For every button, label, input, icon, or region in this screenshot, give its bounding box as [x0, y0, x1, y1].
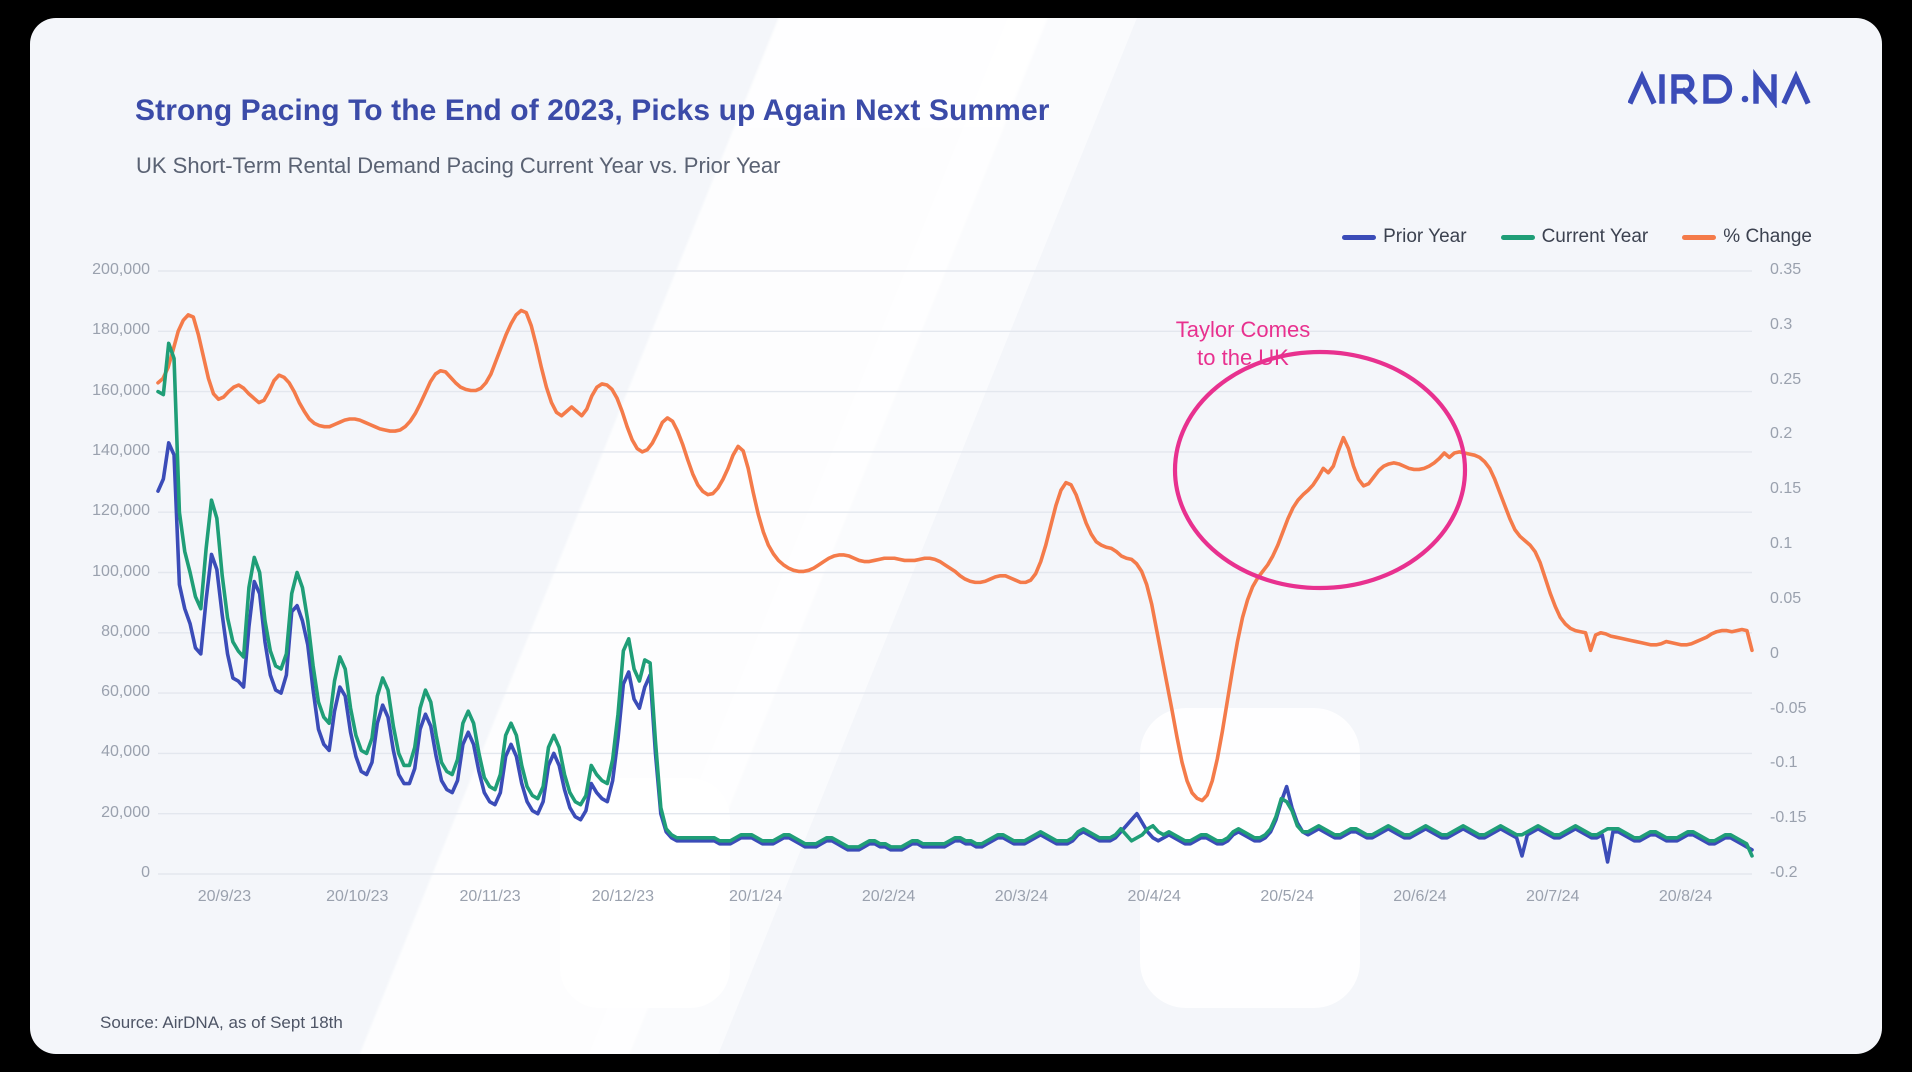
x-axis-tick-label: 20/10/23: [297, 888, 417, 906]
x-axis-tick-label: 20/1/24: [696, 888, 816, 906]
y-axis-right-tick-label: 0.15: [1770, 480, 1801, 498]
y-axis-right-tick-label: -0.05: [1770, 700, 1806, 718]
y-axis-right-tick-label: 0.3: [1770, 316, 1792, 334]
x-axis-tick-label: 20/7/24: [1493, 888, 1613, 906]
series-line--change: [158, 310, 1752, 800]
y-axis-right-tick-label: 0: [1770, 645, 1779, 663]
y-axis-left-tick-label: 200,000: [62, 261, 150, 279]
x-axis-tick-label: 20/8/24: [1626, 888, 1746, 906]
x-axis-tick-label: 20/2/24: [829, 888, 949, 906]
x-axis-tick-label: 20/6/24: [1360, 888, 1480, 906]
y-axis-left-tick-label: 160,000: [62, 382, 150, 400]
y-axis-left-tick-label: 80,000: [62, 623, 150, 641]
y-axis-left-tick-label: 120,000: [62, 502, 150, 520]
x-axis-tick-label: 20/9/23: [164, 888, 284, 906]
series-line-current-year: [158, 343, 1752, 856]
y-axis-left-tick-label: 20,000: [62, 804, 150, 822]
source-note: Source: AirDNA, as of Sept 18th: [100, 1013, 343, 1033]
y-axis-right-tick-label: 0.35: [1770, 261, 1801, 279]
x-axis-tick-label: 20/5/24: [1227, 888, 1347, 906]
y-axis-right-tick-label: 0.25: [1770, 371, 1801, 389]
y-axis-right-tick-label: -0.15: [1770, 809, 1806, 827]
x-axis-tick-label: 20/4/24: [1094, 888, 1214, 906]
y-axis-right-tick-label: 0.1: [1770, 535, 1792, 553]
y-axis-left-tick-label: 0: [62, 864, 150, 882]
chart-card: Strong Pacing To the End of 2023, Picks …: [30, 18, 1882, 1054]
y-axis-right-tick-label: 0.2: [1770, 425, 1792, 443]
series-line-prior-year: [158, 443, 1752, 862]
y-axis-left-tick-label: 40,000: [62, 743, 150, 761]
x-axis-tick-label: 20/3/24: [961, 888, 1081, 906]
chart-plot-area: 020,00040,00060,00080,000100,000120,0001…: [30, 18, 1882, 1054]
x-axis-tick-label: 20/12/23: [563, 888, 683, 906]
y-axis-left-tick-label: 140,000: [62, 442, 150, 460]
y-axis-right-tick-label: 0.05: [1770, 590, 1801, 608]
y-axis-left-tick-label: 100,000: [62, 563, 150, 581]
y-axis-right-tick-label: -0.1: [1770, 754, 1798, 772]
y-axis-left-tick-label: 60,000: [62, 683, 150, 701]
y-axis-right-tick-label: -0.2: [1770, 864, 1798, 882]
annotation-taylor-comes-to-the-uk: Taylor Comes to the UK: [1138, 316, 1348, 371]
y-axis-left-tick-label: 180,000: [62, 321, 150, 339]
x-axis-tick-label: 20/11/23: [430, 888, 550, 906]
